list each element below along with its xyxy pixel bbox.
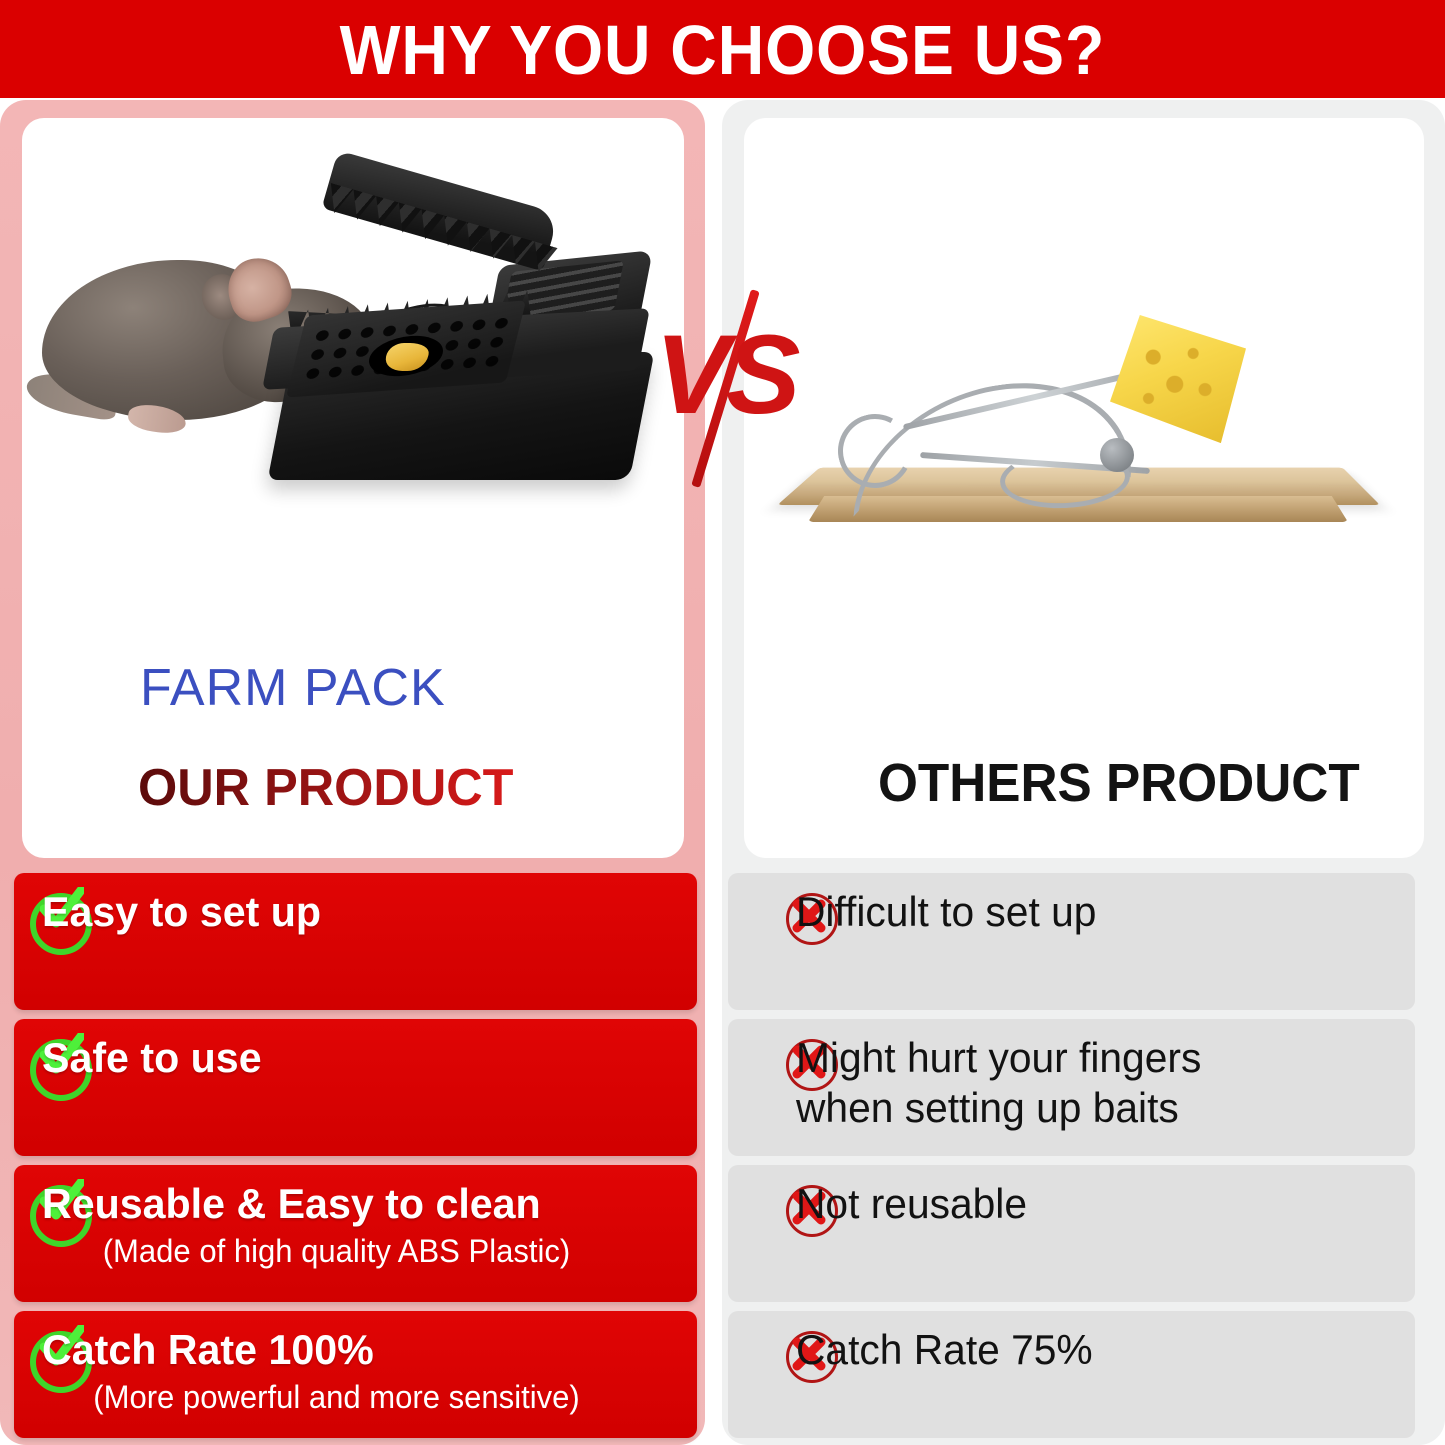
our-product-image xyxy=(22,140,684,610)
page-title: WHY YOU CHOOSE US? xyxy=(58,2,1387,98)
our-feature-row: Easy to set up xyxy=(14,873,697,1010)
our-feature-row: Catch Rate 100%(More powerful and more s… xyxy=(14,1311,697,1438)
others-feature-row: Might hurt your fingerswhen setting up b… xyxy=(728,1019,1415,1156)
feature-label: Catch Rate 100% xyxy=(42,1325,670,1375)
feature-label: Not reusable xyxy=(796,1179,1383,1229)
others-product-heading: OTHERS PRODUCT xyxy=(878,752,1360,814)
brand-label: FARM PACK xyxy=(140,658,446,718)
feature-label: Catch Rate 75% xyxy=(796,1325,1383,1375)
our-product-heading: OUR PRODUCT xyxy=(138,758,513,818)
others-product-image xyxy=(760,290,1410,580)
others-feature-row: Not reusable xyxy=(728,1165,1415,1302)
header-banner: WHY YOU CHOOSE US? xyxy=(0,0,1445,98)
feature-label: Reusable & Easy to clean xyxy=(42,1179,670,1229)
feature-label: Difficult to set up xyxy=(796,887,1383,937)
feature-subtext: (Made of high quality ABS Plastic) xyxy=(0,1231,672,1271)
feature-label: Might hurt your fingers xyxy=(796,1033,1383,1083)
our-feature-row: Safe to use xyxy=(14,1019,697,1156)
others-feature-row: Difficult to set up xyxy=(728,873,1415,1010)
feature-subtext: (More powerful and more sensitive) xyxy=(0,1377,672,1417)
feature-label: Safe to use xyxy=(42,1033,670,1083)
our-feature-row: Reusable & Easy to clean(Made of high qu… xyxy=(14,1165,697,1302)
feature-label: when setting up baits xyxy=(796,1083,1383,1133)
feature-label: Easy to set up xyxy=(42,887,670,937)
others-feature-row: Catch Rate 75% xyxy=(728,1311,1415,1438)
